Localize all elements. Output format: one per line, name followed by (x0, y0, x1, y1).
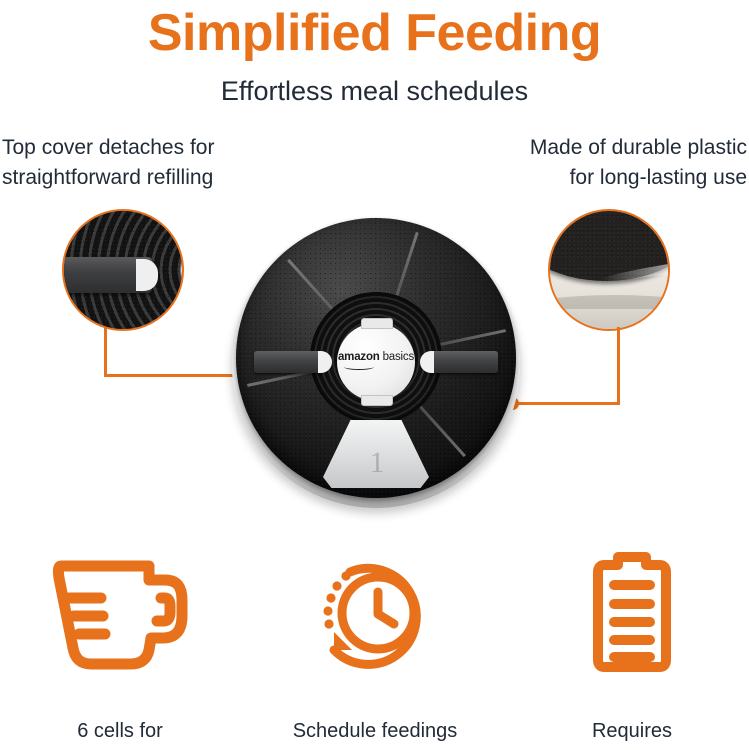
feature-batteries-line1: Requires (517, 716, 747, 746)
callout-label-top-cover-line1: Top cover detaches for (2, 133, 292, 163)
callout-label-top-cover-line2: straightforward refilling (2, 163, 292, 193)
callout-label-durable-plastic: Made of durable plastic for long-lasting… (447, 133, 747, 193)
callout-label-top-cover: Top cover detaches for straightforward r… (2, 133, 292, 193)
lid-handle-closeup-icon (64, 211, 182, 329)
lid-handle-right (428, 351, 498, 373)
amazon-smile-icon (344, 364, 374, 370)
connector-line-right-horizontal (512, 402, 620, 405)
feature-cells-line1: 6 cells for (5, 716, 235, 746)
cap-tab-top (361, 318, 393, 329)
connector-line-right-vertical (617, 327, 620, 405)
compartment-number: 1 (367, 446, 387, 480)
feature-cells: 6 cells for pre-measured food (5, 552, 235, 750)
battery-icon (517, 552, 747, 674)
plastic-edge-closeup-icon (550, 211, 668, 329)
page-subtitle: Effortless meal schedules (0, 74, 749, 108)
clock-schedule-icon (260, 552, 490, 674)
brand-name: amazon (338, 351, 380, 363)
feature-cells-label: 6 cells for pre-measured food (5, 686, 235, 750)
feature-schedule: Schedule feedings up to 24 hours ahead (260, 552, 490, 750)
product-image: amazon basics 1 (232, 218, 520, 506)
callout-label-durable-plastic-line2: for long-lasting use (447, 163, 747, 193)
product-center-cap: amazon basics (337, 323, 415, 401)
connector-line-left-vertical (104, 327, 107, 377)
callout-zoom-bubble-plastic-edge (548, 209, 670, 331)
amazon-basics-logo: amazon basics (338, 352, 414, 371)
callout-label-durable-plastic-line1: Made of durable plastic (447, 133, 747, 163)
brand-suffix: basics (380, 351, 414, 363)
feature-schedule-label: Schedule feedings up to 24 hours ahead (260, 686, 490, 750)
feature-batteries: Requires 3 AA batteries (517, 552, 747, 750)
connector-line-left-horizontal (104, 374, 250, 377)
lid-handle-left (254, 351, 324, 373)
page-title: Simplified Feeding (0, 2, 749, 64)
product-infographic: Simplified Feeding Effortless meal sched… (0, 0, 749, 750)
feature-schedule-line1: Schedule feedings (260, 716, 490, 746)
measuring-cup-icon (5, 552, 235, 674)
cap-tab-bottom (361, 395, 393, 406)
callout-zoom-bubble-lid-handle (62, 209, 184, 331)
feature-batteries-label: Requires 3 AA batteries (517, 686, 747, 750)
